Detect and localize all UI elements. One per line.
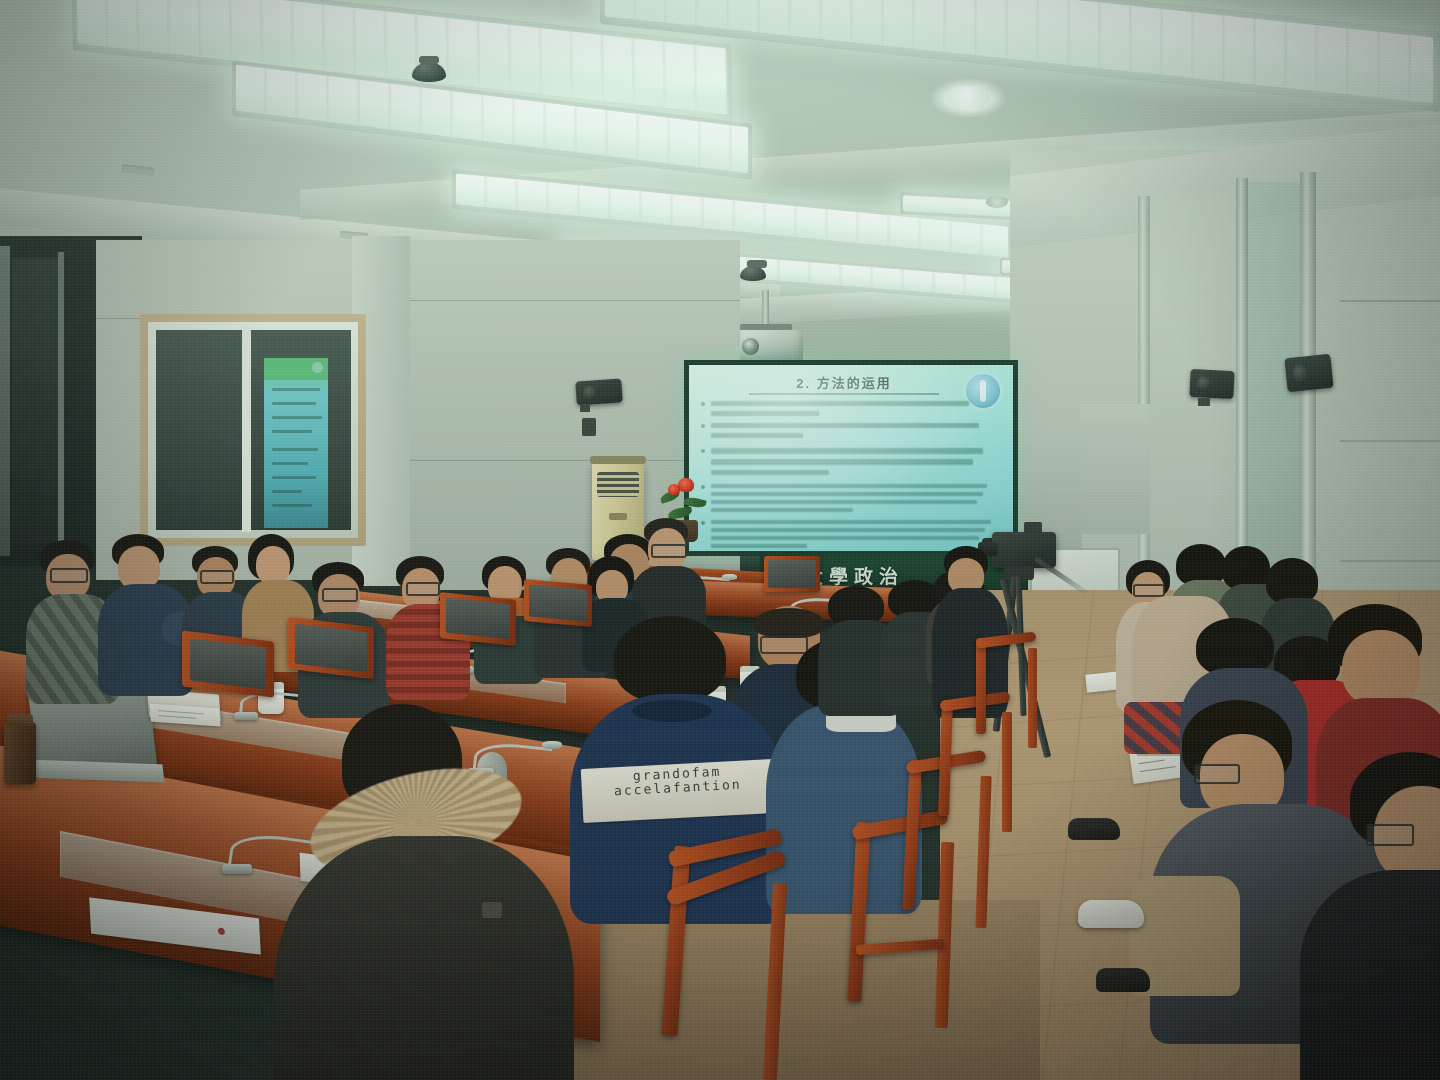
- attendee-right-glasses-large-head: [1342, 630, 1420, 706]
- window-left-glass-pane-1: [156, 330, 242, 530]
- air-conditioner-badge: [609, 513, 628, 520]
- right-wall-seam-2: [1340, 440, 1440, 442]
- thermos-cap: [7, 714, 33, 726]
- projection-screen-border: 2. 方法的运用: [684, 360, 1018, 556]
- wall-speaker-left: [575, 378, 623, 405]
- microphone-head-5: [722, 574, 737, 580]
- white-sneaker: [1078, 900, 1144, 928]
- name-card-dot-1: [218, 927, 225, 935]
- attendee-center-denim-body: [766, 704, 922, 914]
- chair-mid-2-backpost: [976, 638, 986, 734]
- chair-left-4-pad: [529, 584, 587, 621]
- wall-sensor-left: [582, 418, 596, 436]
- right-wall-panel-1: [1080, 404, 1150, 534]
- ceiling-ring-light: [986, 196, 1008, 208]
- attendee-center-sweater-hair: [614, 616, 726, 702]
- air-conditioner-top-cap: [590, 456, 645, 464]
- attendee-center-1-hair: [754, 608, 824, 638]
- attendee-right-1-glasses: [1133, 584, 1165, 597]
- wall-speaker-left-bracket: [580, 404, 590, 412]
- chair-head-table-pad: [768, 560, 816, 588]
- attendee-left-5-glasses: [322, 588, 358, 602]
- left-door-glass: [12, 258, 58, 544]
- camera-viewfinder: [1024, 522, 1042, 534]
- left-door-frame: [0, 246, 10, 556]
- chair-left-3-pad: [446, 598, 510, 640]
- seminar-speaker-glasses: [651, 544, 687, 558]
- attendee-left-3-glasses: [200, 570, 234, 584]
- right-wall-seam-1: [1340, 300, 1440, 302]
- attendee-fur-hood-body: [274, 836, 574, 1080]
- dark-shoe-1: [1068, 818, 1120, 840]
- attendee-right-quilted-glasses: [1194, 764, 1240, 784]
- attendee-left-6-glasses: [406, 582, 440, 596]
- plant-flower-1: [678, 478, 694, 492]
- window-slide-reflection: [264, 358, 328, 528]
- attendee-center-1-glasses: [760, 636, 808, 654]
- ceiling-dome-camera-front: [740, 266, 766, 281]
- projection-screen: 2. 方法的运用: [689, 365, 1013, 551]
- attendee-left-4-head: [256, 546, 290, 584]
- chair-mid-2-leg: [1028, 648, 1037, 748]
- attendee-fur-hood-strap: [482, 902, 502, 918]
- projector-pole: [762, 290, 769, 326]
- floor-left-strip: [560, 900, 1040, 1080]
- chair-mid-1-leg: [1002, 712, 1012, 832]
- attendee-right-black-coat-glasses: [1366, 824, 1414, 846]
- attendee-center-sweater-collar: [632, 700, 712, 722]
- wall-speaker-corner: [1284, 354, 1333, 393]
- attendee-left-1-glasses: [50, 568, 88, 583]
- wall-speaker-right: [1189, 369, 1234, 399]
- left-door-mullion: [58, 252, 64, 552]
- wall-speaker-right-bracket: [1198, 398, 1210, 406]
- sweater-graphic-band: grandofam accelafantion: [581, 759, 776, 823]
- window-left-mullion: [242, 326, 251, 532]
- ceiling-dome-camera-rear: [412, 62, 446, 82]
- conference-room-photo: 2. 方法的运用: [0, 0, 1440, 1080]
- ceiling-spot-fixture: [946, 86, 990, 110]
- brown-thermos: [4, 722, 36, 784]
- ceiling-vent-1: [122, 164, 154, 175]
- microphone-head-2: [542, 741, 562, 749]
- right-wall-seam-3: [1340, 560, 1440, 562]
- back-wall-seam-1: [410, 300, 740, 301]
- plant-flower-2: [668, 484, 680, 495]
- dark-shoe-2: [1096, 968, 1150, 992]
- air-conditioner-grill: [597, 472, 639, 497]
- screen-glare: [689, 365, 1013, 551]
